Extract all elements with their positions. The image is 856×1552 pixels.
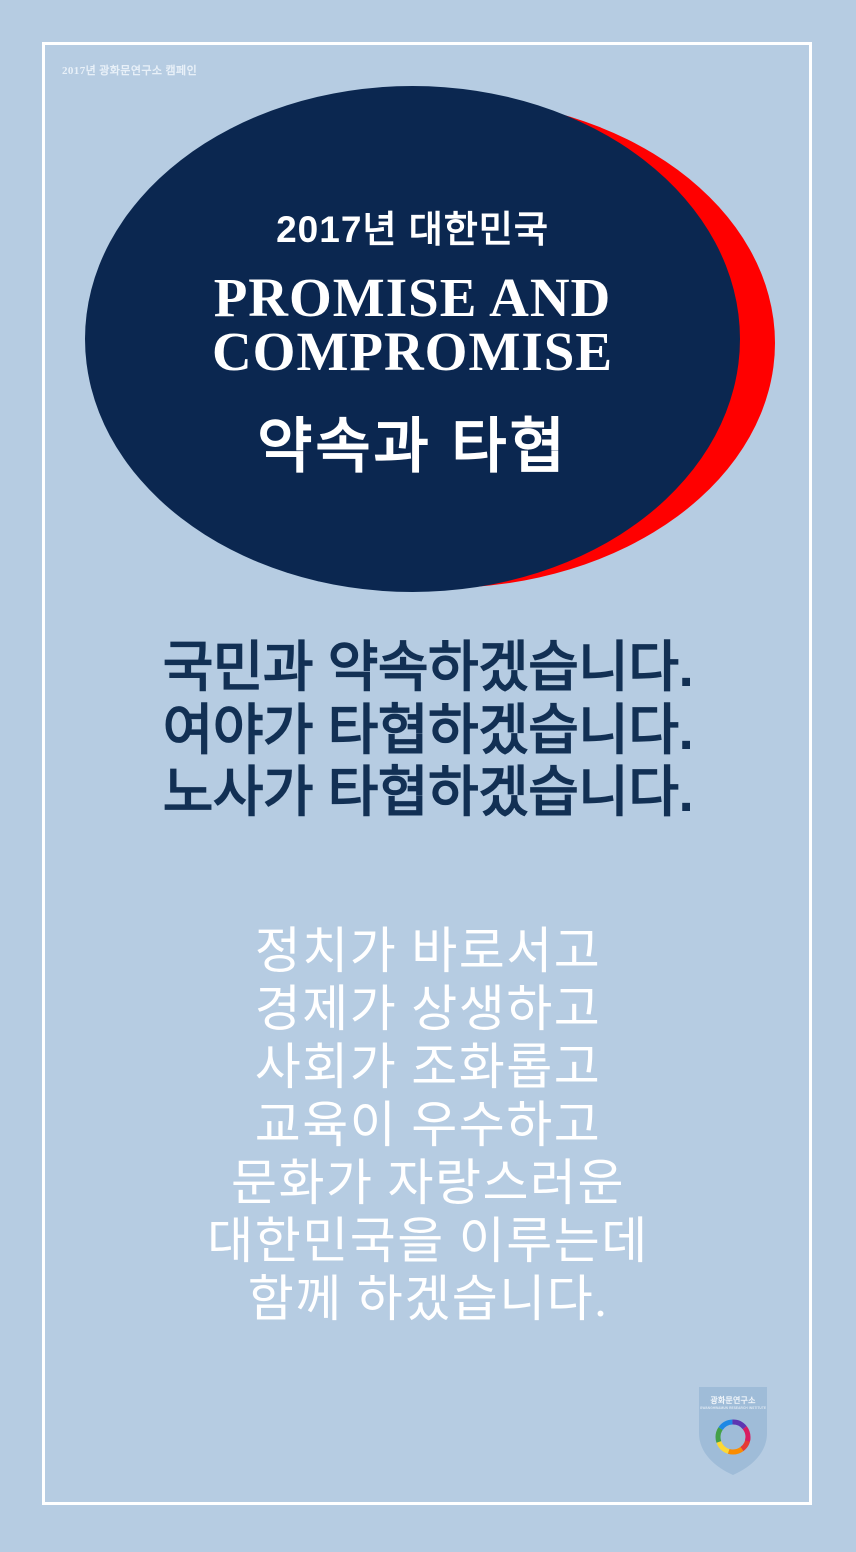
poster-canvas: 2017년 광화문연구소 캠페인 2017년 대한민국 PROMISE AND … — [0, 0, 856, 1552]
verse-block: 정치가 바로서고 경제가 상생하고 사회가 조화롭고 교육이 우수하고 문화가 … — [0, 922, 856, 1328]
emblem-text-block: 2017년 대한민국 PROMISE AND COMPROMISE 약속과 타협 — [85, 86, 740, 592]
headline-line-3: 노사가 타협하겠습니다. — [0, 761, 856, 824]
verse-line-3: 사회가 조화롭고 — [0, 1038, 856, 1096]
institute-logo: 광화문연구소 GWANGHWAMUN RESEARCH INSTITUTE — [697, 1385, 769, 1477]
emblem-year-label: 2017년 대한민국 — [276, 199, 549, 253]
emblem-english-line-2: COMPROMISE — [212, 325, 613, 379]
logo-name-label: 광화문연구소 — [697, 1395, 769, 1406]
emblem-korean-title: 약속과 타협 — [257, 398, 568, 485]
verse-line-6: 대한민국을 이루는데 — [0, 1212, 856, 1270]
verse-line-1: 정치가 바로서고 — [0, 922, 856, 980]
logo-subtitle-label: GWANGHWAMUN RESEARCH INSTITUTE — [697, 1406, 769, 1410]
emblem-badge: 2017년 대한민국 PROMISE AND COMPROMISE 약속과 타협 — [0, 86, 856, 606]
verse-line-2: 경제가 상생하고 — [0, 980, 856, 1038]
headline-line-1: 국민과 약속하겠습니다. — [0, 636, 856, 699]
headline-line-2: 여야가 타협하겠습니다. — [0, 699, 856, 762]
emblem-english-line-1: PROMISE AND — [212, 271, 613, 325]
verse-line-7: 함께 하겠습니다. — [0, 1270, 856, 1328]
verse-line-5: 문화가 자랑스러운 — [0, 1154, 856, 1212]
emblem-english-title: PROMISE AND COMPROMISE — [212, 271, 613, 379]
verse-line-4: 교육이 우수하고 — [0, 1096, 856, 1154]
campaign-caption: 2017년 광화문연구소 캠페인 — [62, 62, 197, 78]
headline-block: 국민과 약속하겠습니다. 여야가 타협하겠습니다. 노사가 타협하겠습니다. — [0, 636, 856, 824]
